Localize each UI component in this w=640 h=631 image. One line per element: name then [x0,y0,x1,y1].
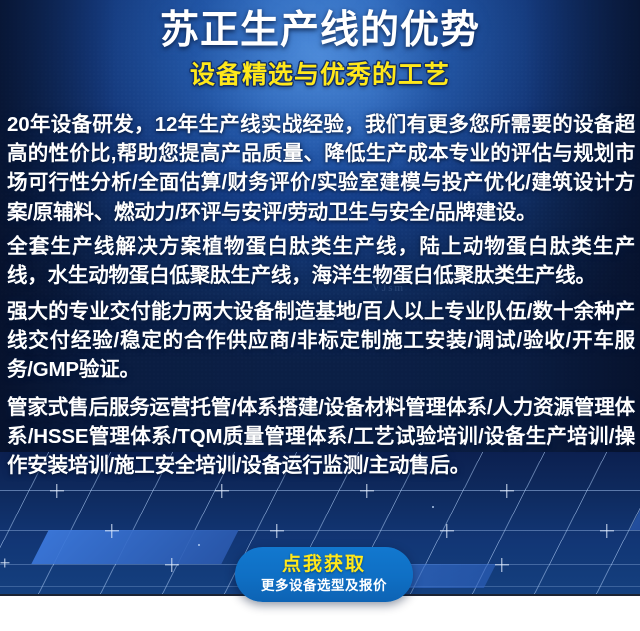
paragraph: 管家式售后服务运营托管/体系搭建/设备材料管理体系/人力资源管理体系/HSSE管… [7,393,635,481]
promo-poster: VJsm 苏正生产线的优势 设备精选与优秀的工艺 20年设备研发，12年生产线实… [0,0,640,631]
cta-sub-label: 更多设备选型及报价 [261,577,387,595]
paragraph: 强大的专业交付能力两大设备制造基地/百人以上专业队伍/数十余种产线交付经验/稳定… [7,297,635,385]
cta-button[interactable]: 点我获取 更多设备选型及报价 [235,547,413,602]
spark-dot [432,506,434,508]
highlight-tile [31,530,238,564]
spark-dot [198,544,200,546]
page-subtitle: 设备精选与优秀的工艺 [0,60,640,90]
cta-main-label: 点我获取 [282,554,366,576]
page-title: 苏正生产线的优势 [0,9,640,53]
paragraph: 20年设备研发，12年生产线实战经验，我们有更多您所需要的设备超高的性价比,帮助… [7,110,635,227]
paragraph: 全套生产线解决方案植物蛋白肽类生产线，陆上动物蛋白肽类生产线，水生动物蛋白低聚肽… [7,232,635,290]
